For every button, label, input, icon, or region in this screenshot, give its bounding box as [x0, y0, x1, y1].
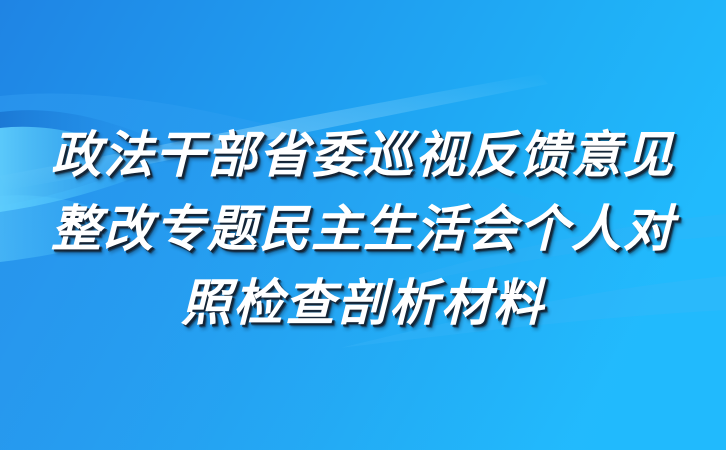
title-line-1: 政法干部省委巡视反馈意见	[0, 118, 726, 192]
title-line-3: 照检查剖析材料	[0, 266, 726, 340]
title-line-2: 整改专题民主生活会个人对	[0, 192, 726, 266]
cover-title: 政法干部省委巡视反馈意见 整改专题民主生活会个人对 照检查剖析材料	[0, 118, 726, 340]
cover-banner: 政法干部省委巡视反馈意见 整改专题民主生活会个人对 照检查剖析材料	[0, 0, 726, 450]
